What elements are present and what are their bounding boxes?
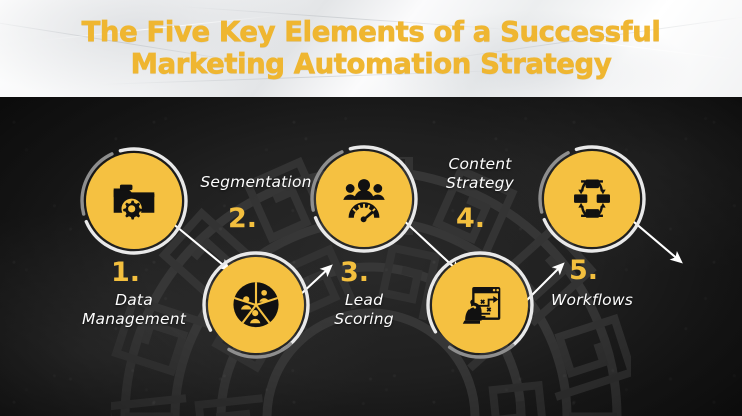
step-disc-3: [316, 151, 412, 247]
step-ring-1: [78, 145, 190, 257]
step-disc-2: [208, 257, 304, 353]
diagram-stage: 1. Data Management: [0, 97, 742, 416]
infographic-canvas: The Five Key Elements of a Successful Ma…: [0, 0, 742, 416]
header-banner: The Five Key Elements of a Successful Ma…: [0, 0, 742, 97]
workflow-boxes-arrows-icon: [567, 174, 617, 224]
chess-knight-strategy-icon: [455, 280, 505, 330]
people-gauge-icon: [338, 173, 390, 225]
step-number-4: 4.: [456, 205, 485, 232]
step-label-3: Lead Scoring: [292, 291, 436, 329]
folder-gear-icon: [109, 176, 159, 226]
step-number-5: 5.: [569, 257, 598, 284]
page-title-line2: Marketing Automation Strategy: [0, 48, 742, 80]
page-title-line1: The Five Key Elements of a Successful: [0, 16, 742, 48]
step-number-2: 2.: [228, 205, 257, 232]
step-number-1: 1.: [111, 259, 140, 286]
step-number-3: 3.: [340, 259, 369, 286]
pie-chart-people-icon: [230, 279, 282, 331]
step-ring-3: [308, 143, 420, 255]
step-disc-1: [86, 153, 182, 249]
step-label-1: Data Management: [56, 291, 212, 329]
step-label-5: Workflows: [514, 291, 670, 310]
step-label-4: Content Strategy: [410, 155, 550, 193]
step-disc-5: [544, 151, 640, 247]
step-ring-5: [536, 143, 648, 255]
page-title: The Five Key Elements of a Successful Ma…: [0, 16, 742, 80]
